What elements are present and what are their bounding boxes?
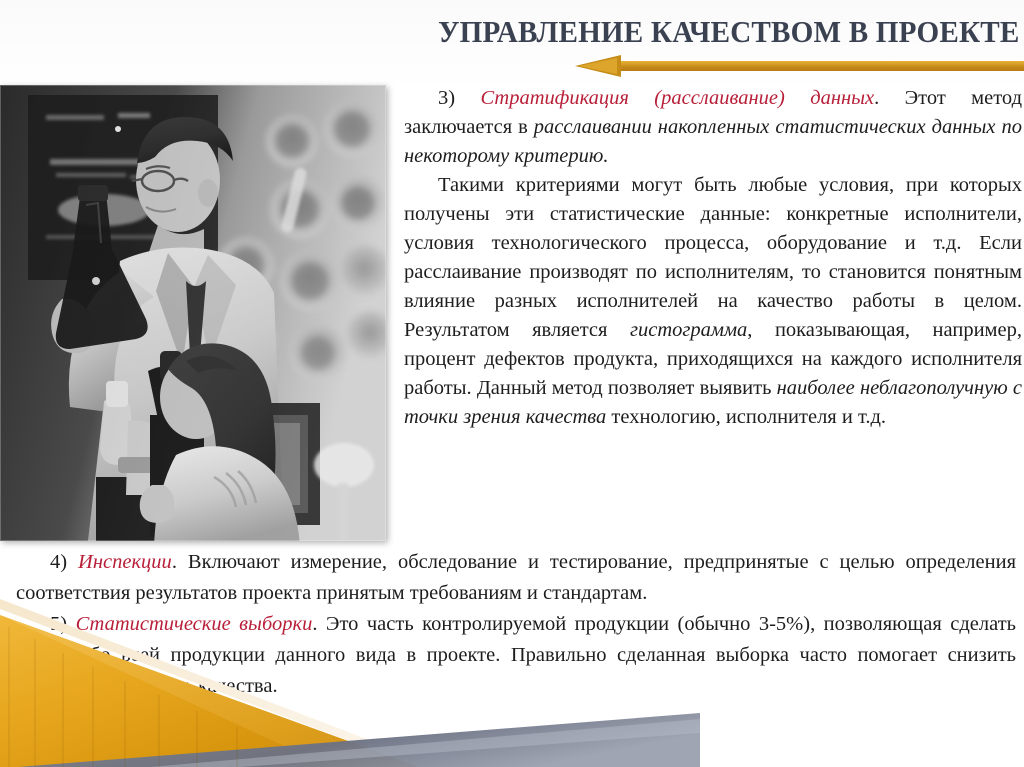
paragraph-criteria: Такими критериями могут быть любые услов… bbox=[404, 171, 1022, 432]
laboratory-photo bbox=[0, 85, 386, 541]
slide-title-bar: УПРАВЛЕНИЕ КАЧЕСТВОМ В ПРОЕКТЕ bbox=[330, 8, 1024, 56]
item-lead: Статистические выборки bbox=[76, 613, 313, 635]
bottom-text-block: 4) Инспекции. Включают измерение, обслед… bbox=[16, 547, 1016, 702]
arrow-head-highlight bbox=[579, 58, 617, 74]
paragraph-item-4: 4) Инспекции. Включают измерение, обслед… bbox=[16, 547, 1016, 609]
paragraph-item-3: 3) Стратификация (расслаивание) данных. … bbox=[404, 84, 1022, 171]
page-title: УПРАВЛЕНИЕ КАЧЕСТВОМ В ПРОЕКТЕ bbox=[439, 14, 1020, 50]
item-number: 4) bbox=[50, 551, 67, 573]
item-number: 5) bbox=[50, 613, 67, 635]
criteria-part-5: технологию, исполнителя и т.д. bbox=[606, 406, 886, 428]
criteria-part-2: гистограмма bbox=[630, 319, 747, 341]
slide-root: УПРАВЛЕНИЕ КАЧЕСТВОМ В ПРОЕКТЕ bbox=[0, 0, 1024, 767]
paragraph-item-5: 5) Статистические выборки. Это часть кон… bbox=[16, 609, 1016, 702]
criteria-part-1: Такими критериями могут быть любые услов… bbox=[404, 174, 1022, 341]
item-lead: Инспекции bbox=[78, 551, 172, 573]
item-lead: Стратификация (расслаивание) данных bbox=[480, 87, 874, 109]
arrow-shaft bbox=[619, 61, 1024, 71]
item-number: 3) bbox=[438, 87, 455, 109]
right-column-text: 3) Стратификация (расслаивание) данных. … bbox=[404, 84, 1022, 432]
left-arrow-icon bbox=[575, 55, 1024, 77]
